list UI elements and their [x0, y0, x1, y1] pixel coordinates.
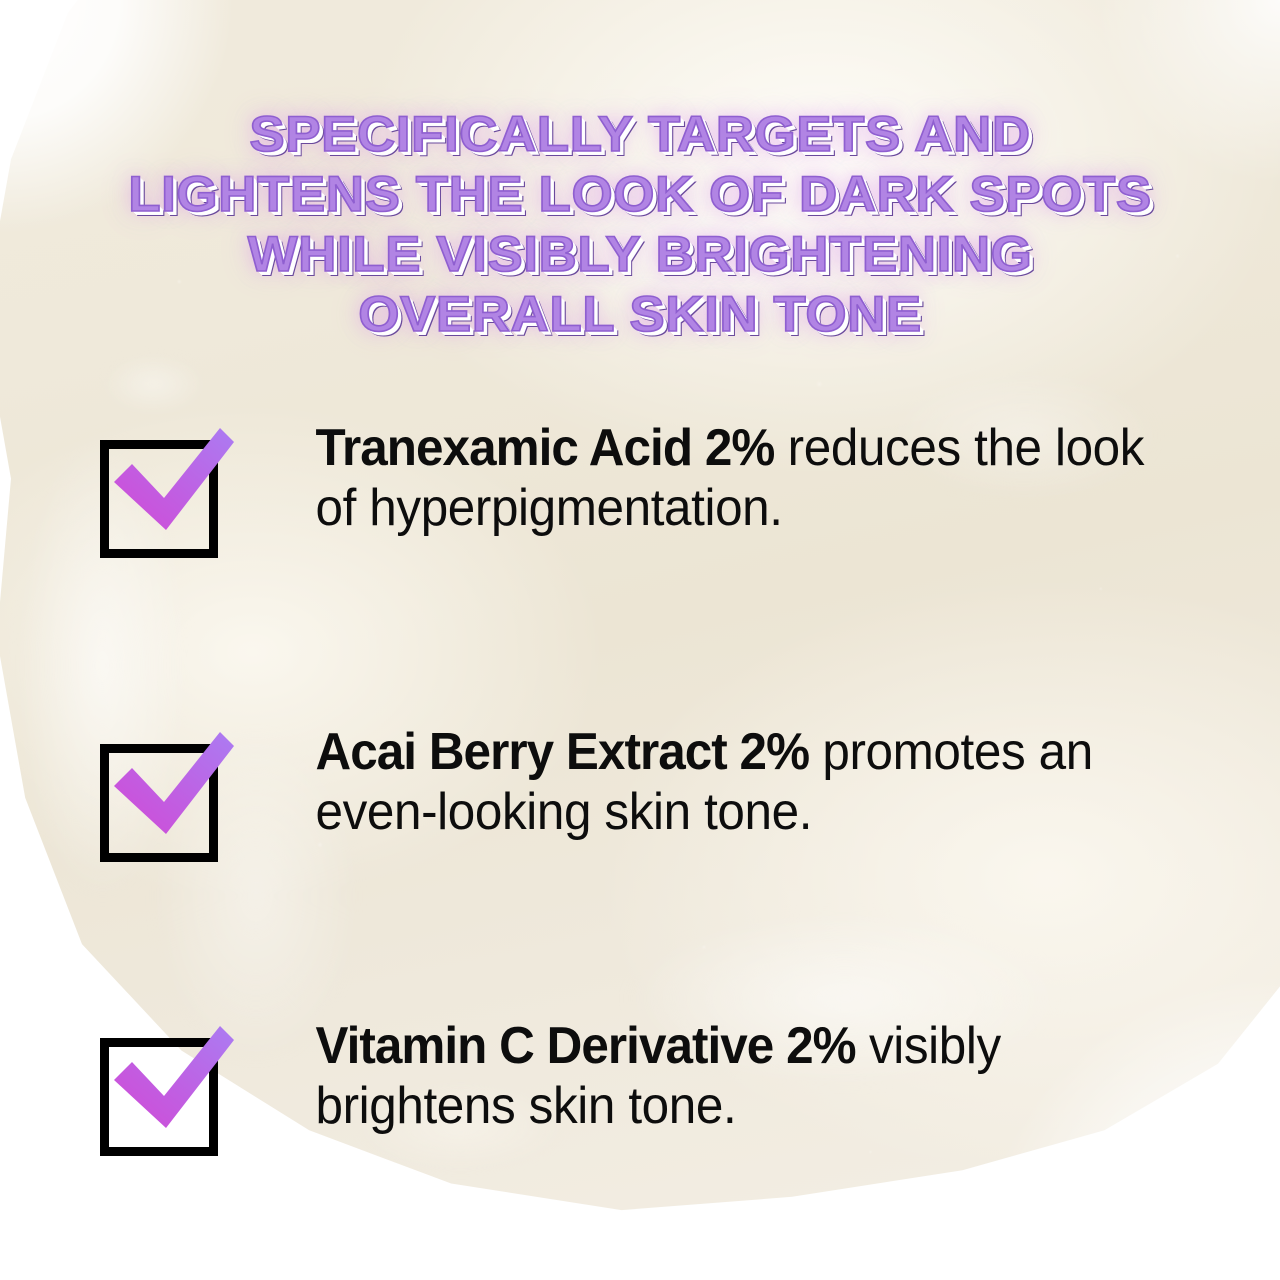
- checkmark-glyph: [108, 1024, 236, 1156]
- benefit-text: Acai Berry Extract 2% promotes an even-l…: [230, 722, 1228, 842]
- benefit-item-vitamin-c-derivative: Vitamin C Derivative 2% visibly brighten…: [0, 1016, 1280, 1155]
- benefit-text: Vitamin C Derivative 2% visibly brighten…: [230, 1016, 1228, 1136]
- benefit-text: Tranexamic Acid 2% reduces the look of h…: [230, 418, 1228, 538]
- benefit-lead: Tranexamic Acid 2%: [316, 419, 775, 477]
- benefit-item-tranexamic-acid: Tranexamic Acid 2% reduces the look of h…: [0, 418, 1280, 557]
- infographic-canvas: SPECIFICALLY TARGETS AND LIGHTENS THE LO…: [0, 0, 1280, 1280]
- benefits-list: Tranexamic Acid 2% reduces the look of h…: [0, 418, 1280, 1155]
- benefit-item-acai-berry-extract: Acai Berry Extract 2% promotes an even-l…: [0, 722, 1280, 861]
- benefit-lead: Acai Berry Extract 2%: [316, 723, 810, 781]
- checkmark-glyph: [108, 730, 236, 862]
- checkbox-checked-icon: [100, 432, 230, 557]
- checkbox-checked-icon: [100, 736, 230, 861]
- headline-line-3: WHILE VISIBLY BRIGHTENING: [0, 224, 1280, 284]
- checkbox-checked-icon: [100, 1030, 230, 1155]
- content-container: SPECIFICALLY TARGETS AND LIGHTENS THE LO…: [0, 0, 1280, 1280]
- headline: SPECIFICALLY TARGETS AND LIGHTENS THE LO…: [0, 104, 1280, 344]
- headline-line-2: LIGHTENS THE LOOK OF DARK SPOTS: [0, 164, 1280, 224]
- headline-line-4: OVERALL SKIN TONE: [0, 284, 1280, 344]
- headline-line-1: SPECIFICALLY TARGETS AND: [0, 104, 1280, 164]
- checkmark-glyph: [108, 426, 236, 558]
- benefit-lead: Vitamin C Derivative 2%: [316, 1017, 856, 1075]
